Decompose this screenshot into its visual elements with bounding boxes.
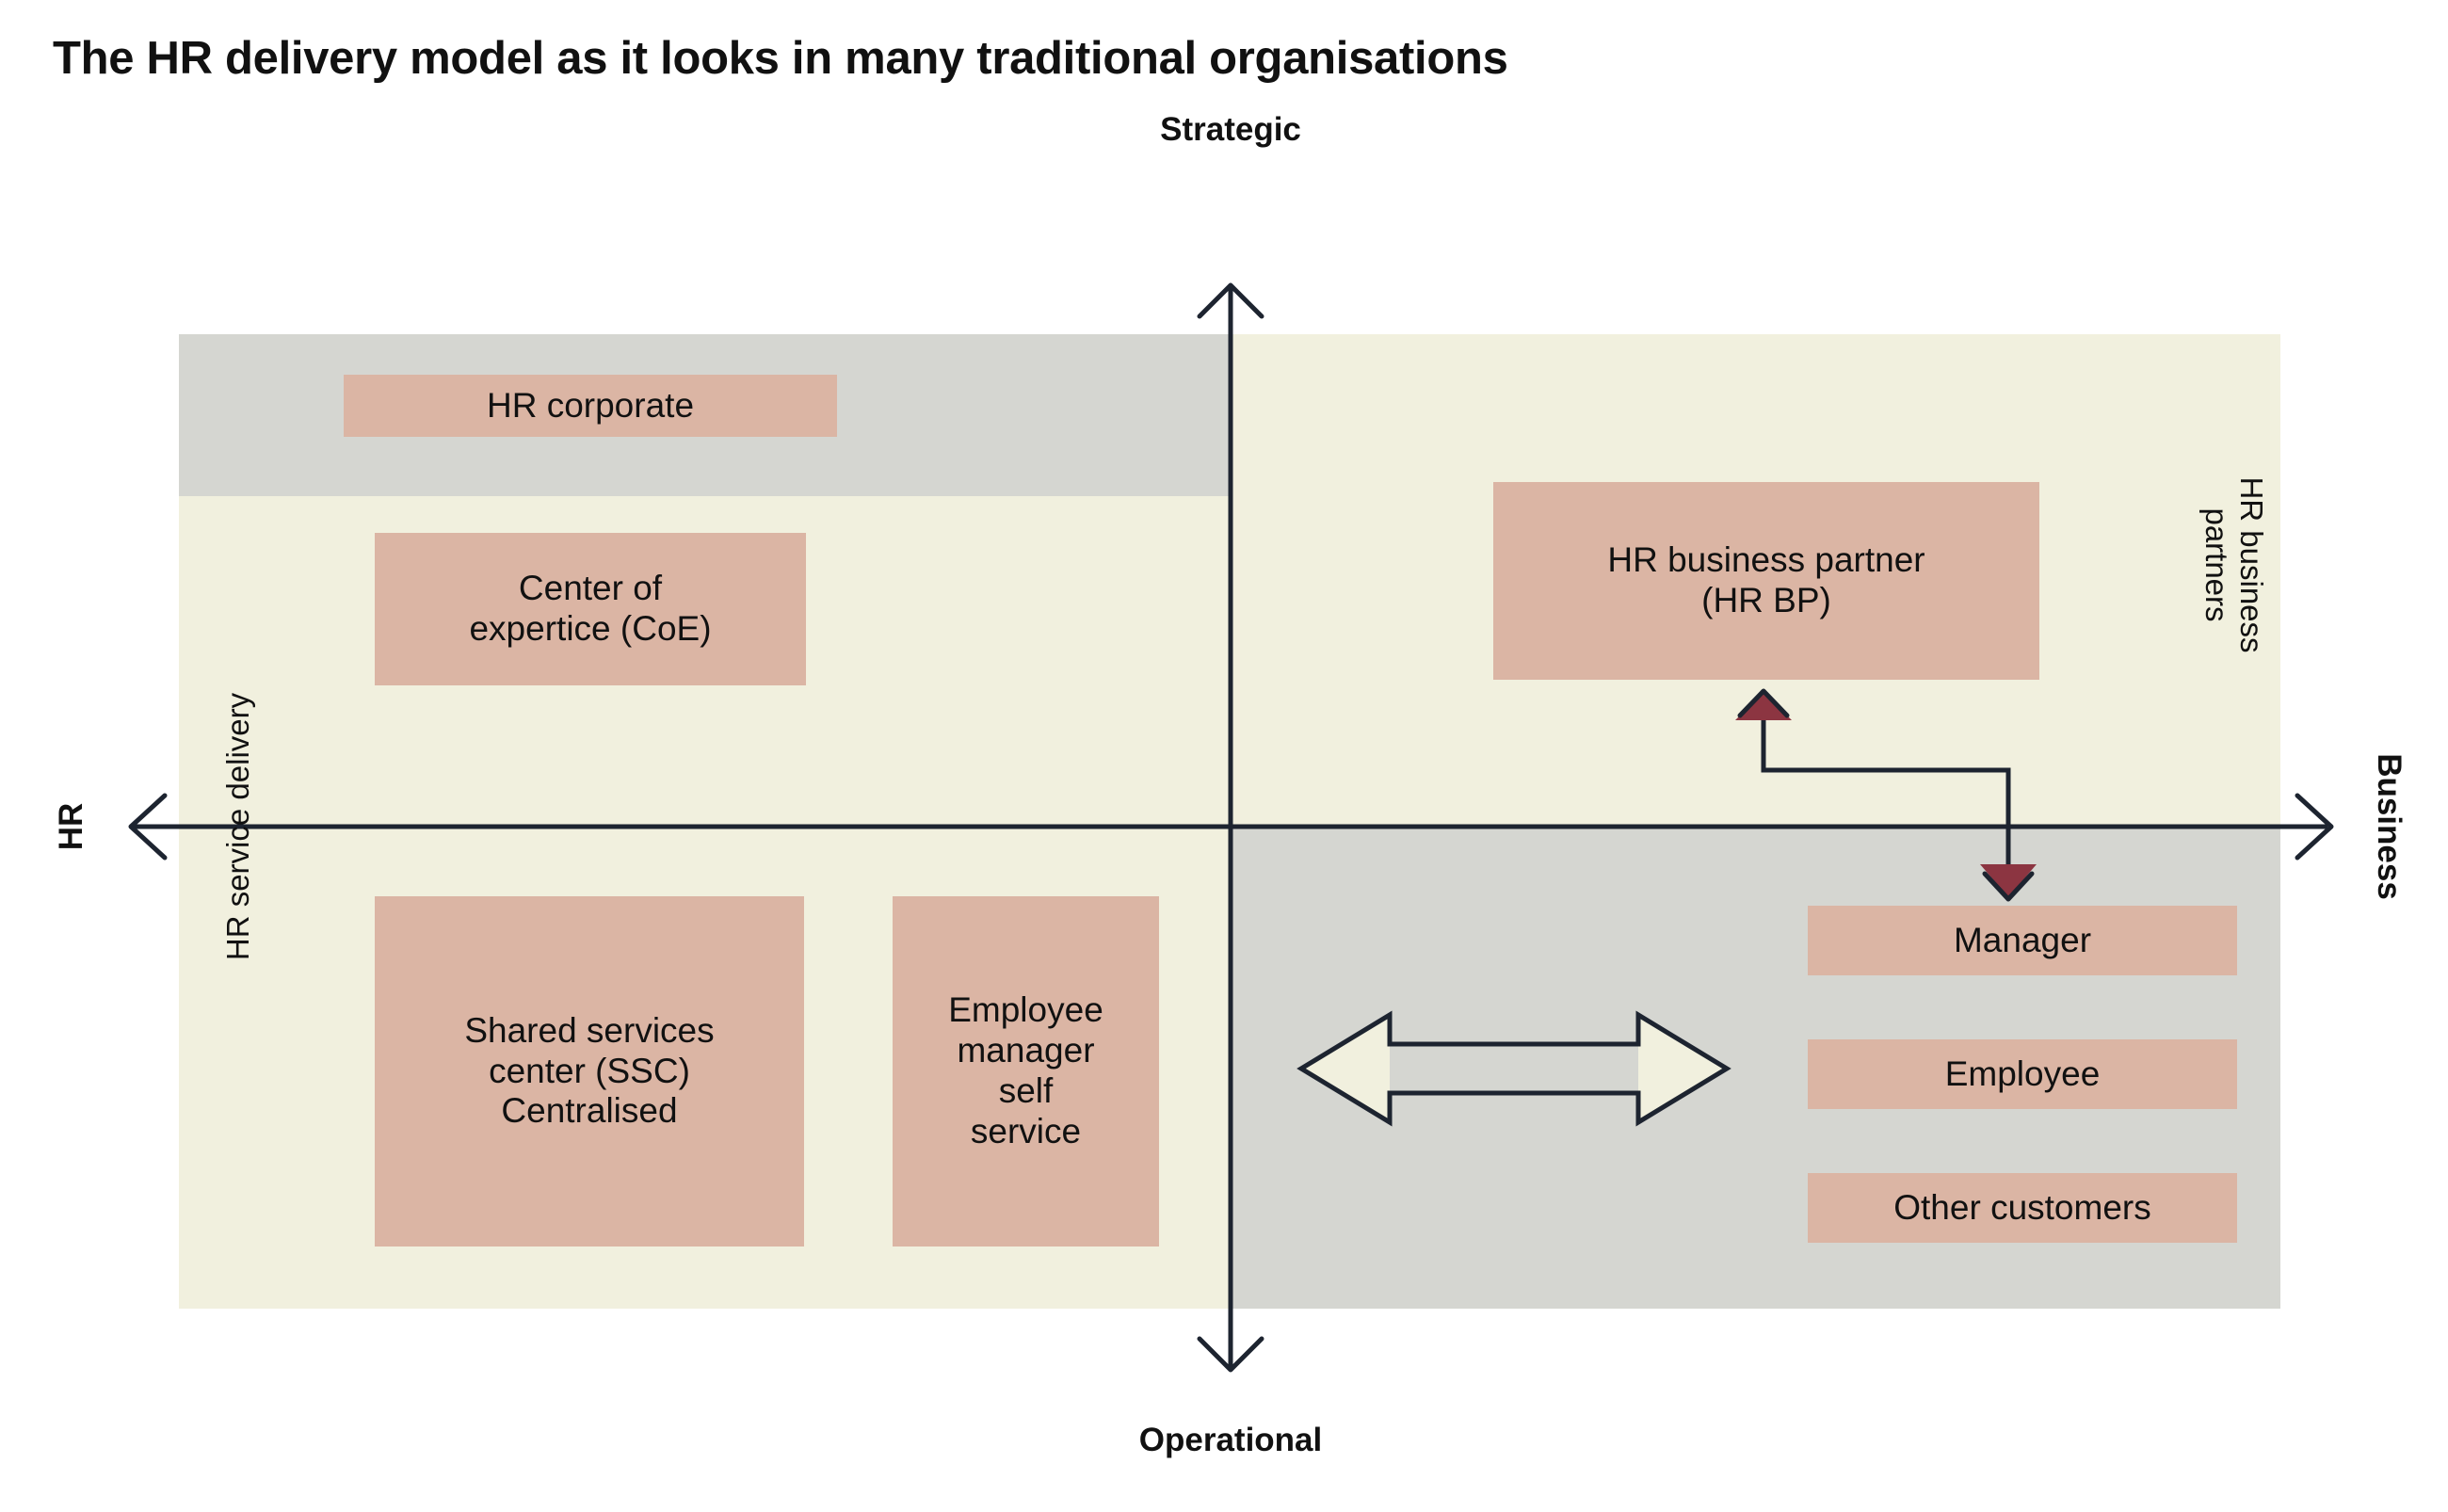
node-box-other-customers[interactable]: Other customers: [1808, 1173, 2237, 1243]
label-hr-business-partners: HR business partners: [2198, 476, 2268, 652]
axis-label-strategic: Strategic: [1160, 111, 1301, 149]
node-box-hr-corporate[interactable]: HR corporate: [344, 375, 837, 437]
page-title: The HR delivery model as it looks in man…: [53, 32, 1508, 85]
node-box-shared-services-center[interactable]: Shared services center (SSC) Centralised: [375, 896, 804, 1247]
node-box-center-of-expertice[interactable]: Center of expertice (CoE): [375, 533, 806, 685]
operational-arrowhead-icon: [1200, 1339, 1262, 1370]
axis-label-hr: HR: [53, 803, 90, 851]
label-hr-service-delivery: HR service delivery: [220, 693, 256, 960]
axis-label-business: Business: [2370, 753, 2408, 900]
node-box-employee[interactable]: Employee: [1808, 1039, 2237, 1109]
hr-arrowhead-icon: [131, 796, 165, 858]
node-box-employee-manager-self-service[interactable]: Employee manager self service: [893, 896, 1159, 1247]
axis-label-operational: Operational: [1139, 1422, 1322, 1459]
node-box-hr-business-partner[interactable]: HR business partner (HR BP): [1493, 482, 2039, 680]
business-arrowhead-icon: [2297, 796, 2331, 858]
node-box-manager[interactable]: Manager: [1808, 906, 2237, 975]
strategic-arrowhead-icon: [1200, 285, 1262, 316]
